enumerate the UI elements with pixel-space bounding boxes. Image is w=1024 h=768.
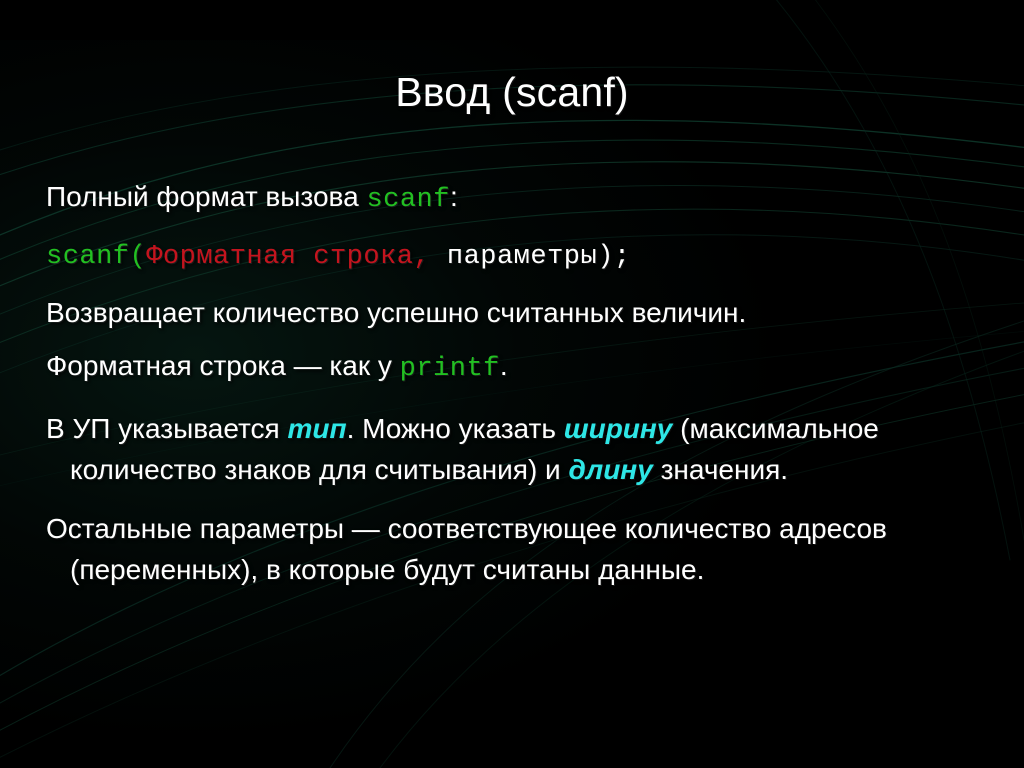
format-note-code-printf: printf [400,354,500,384]
call-format-text-before: Полный формат вызова [46,181,366,212]
format-note-text-before: Форматная строка — как у [46,350,400,381]
body-line-call-format: Полный формат вызова scanf: [46,176,986,221]
body-line-remaining-params: Остальные параметры — соответствующее ко… [46,508,986,590]
body-line-format-string-note: Форматная строка — как у printf. [46,345,986,390]
conv-seg-4: значения. [653,454,788,485]
format-note-text-after: . [500,350,508,381]
call-format-code-scanf: scanf [366,185,450,215]
body-line-return-value: Возвращает количество успешно считанных … [46,292,986,333]
body-line-conversion-spec: В УП указывается тип. Можно указать шири… [46,408,986,490]
presentation-slide: Ввод (scanf) Полный формат вызова scanf:… [0,0,1024,768]
conv-emphasis-type: тип [287,413,346,444]
slide-title: Ввод (scanf) [0,68,1024,116]
code-format-string-arg: Форматная строка [146,242,413,272]
code-comma: , [413,242,430,272]
conv-seg-1: В УП указывается [46,413,287,444]
slide-body: Полный формат вызова scanf: scanf(Формат… [46,176,986,602]
conv-seg-2: . Можно указать [347,413,564,444]
code-params-arg: параметры); [430,242,630,272]
call-format-text-after: : [450,181,458,212]
code-function-name: scanf( [46,242,146,272]
body-line-code-signature: scanf(Форматная строка, параметры); [46,233,986,278]
conv-emphasis-length: длину [568,454,652,485]
conv-emphasis-width: ширину [564,413,673,444]
